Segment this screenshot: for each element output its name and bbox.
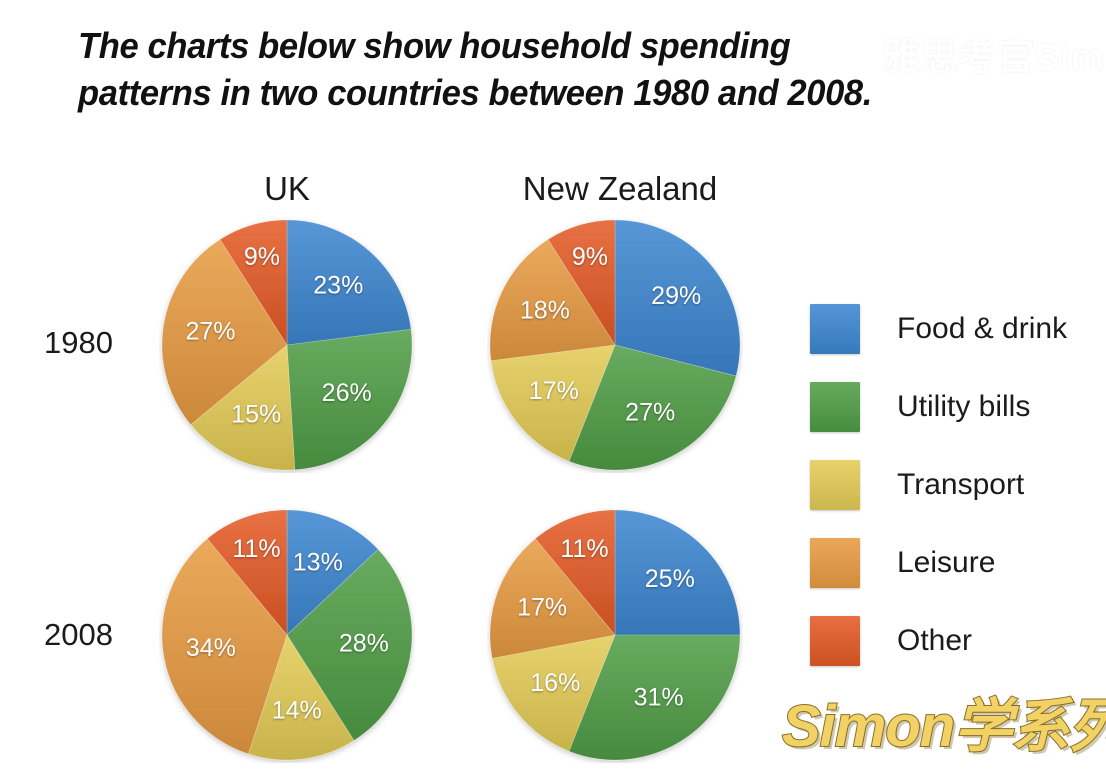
- pie-slice-label: 25%: [645, 565, 695, 593]
- pie-slice-label: 28%: [339, 629, 389, 657]
- pie-slice-label: 9%: [572, 243, 608, 271]
- legend-swatch-icon: [810, 538, 860, 588]
- pie-slice-label: 13%: [293, 549, 343, 577]
- column-heading-new-zealand: New Zealand: [490, 170, 750, 208]
- pie-svg: 29%27%17%18%9%: [487, 217, 743, 473]
- pie-slice-label: 23%: [313, 272, 363, 300]
- pie-slice-label: 17%: [517, 593, 567, 621]
- pie-chart-uk-1980: 23%26%15%27%9%: [159, 217, 415, 473]
- legend-item[interactable]: Food & drink: [810, 303, 1067, 355]
- legend-item[interactable]: Other: [810, 615, 1067, 667]
- pie-chart-new-zealand-2008: 25%31%16%17%11%: [487, 507, 743, 763]
- pie-slice-label: 15%: [231, 401, 281, 429]
- legend-label: Transport: [897, 468, 1024, 502]
- column-heading-uk: UK: [167, 170, 407, 208]
- pie-slice-label: 9%: [244, 243, 280, 271]
- watermark-bottom-right: Simon学系列: [782, 694, 1106, 760]
- legend-item[interactable]: Transport: [810, 459, 1067, 511]
- row-label-1980: 1980: [44, 325, 113, 361]
- pie-slice-label: 14%: [272, 697, 322, 725]
- pie-chart-uk-2008: 13%28%14%34%11%: [159, 507, 415, 763]
- legend-label: Leisure: [897, 546, 995, 580]
- pie-slice-label: 31%: [634, 684, 684, 712]
- pie-slice-label: 29%: [651, 282, 701, 310]
- legend-swatch-icon: [810, 460, 860, 510]
- pie-slice-label: 27%: [185, 318, 235, 346]
- pie-slice-label: 16%: [530, 669, 580, 697]
- legend-item[interactable]: Utility bills: [810, 381, 1067, 433]
- legend-swatch-icon: [810, 304, 860, 354]
- pie-svg: 23%26%15%27%9%: [159, 217, 415, 473]
- legend-label: Utility bills: [897, 390, 1030, 424]
- pie-svg: 25%31%16%17%11%: [487, 507, 743, 763]
- legend-label: Other: [897, 624, 972, 658]
- pie-slice-label: 11%: [232, 535, 280, 563]
- pie-slice-label: 17%: [529, 377, 579, 405]
- legend-label: Food & drink: [897, 312, 1067, 346]
- title-line-2: patterns in two countries between 1980 a…: [78, 69, 942, 116]
- pie-slice-label: 34%: [186, 634, 236, 662]
- pie-slice-label: 26%: [322, 379, 372, 407]
- pie-slice-label: 11%: [560, 535, 608, 563]
- page-title: The charts below show household spending…: [78, 22, 978, 116]
- pie-chart-new-zealand-1980: 29%27%17%18%9%: [487, 217, 743, 473]
- title-line-1: The charts below show household spending: [78, 22, 942, 69]
- pie-slice-label: 27%: [625, 399, 675, 427]
- legend: Food & drinkUtility billsTransportLeisur…: [810, 303, 1067, 667]
- pie-svg: 13%28%14%34%11%: [159, 507, 415, 763]
- legend-swatch-icon: [810, 616, 860, 666]
- pie-slice-label: 18%: [520, 297, 570, 325]
- legend-swatch-icon: [810, 382, 860, 432]
- legend-item[interactable]: Leisure: [810, 537, 1067, 589]
- row-label-2008: 2008: [44, 617, 113, 653]
